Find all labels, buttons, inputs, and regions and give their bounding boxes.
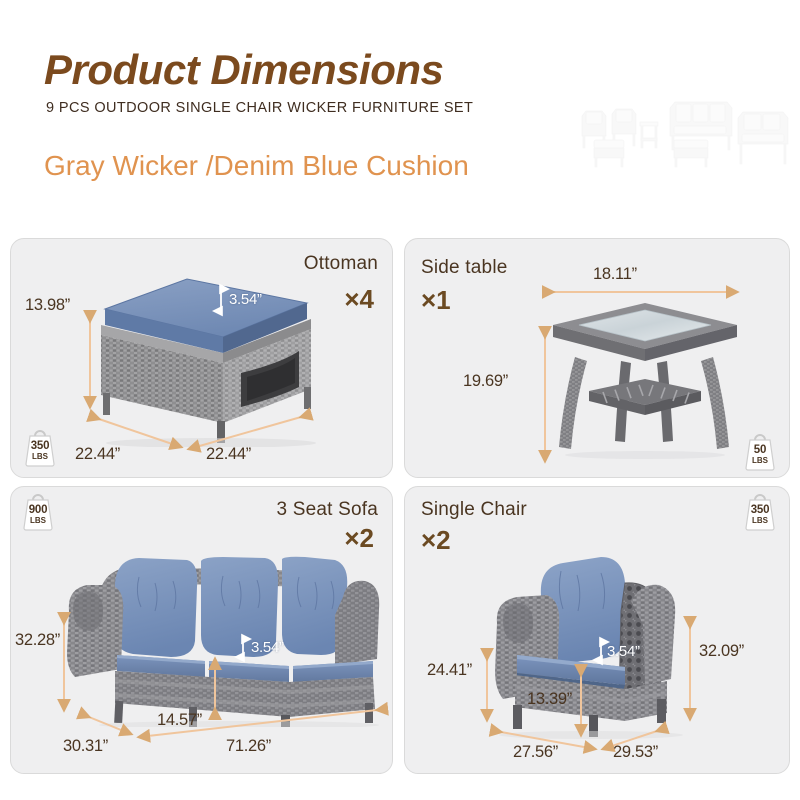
- panel-sidetable-title: Side table: [421, 257, 508, 279]
- chair-dim-arm-height: 24.41”: [427, 661, 472, 680]
- sofa-dim-width: 71.26”: [226, 737, 271, 756]
- weight-badge-chair: 350 LBS: [741, 491, 779, 531]
- infographic-canvas: Product Dimensions 9 PCS OUTDOOR SINGLE …: [0, 0, 800, 800]
- sofa-dim-height: 32.28”: [15, 631, 60, 650]
- sofa-dim-cushion: 3.54”: [251, 639, 284, 656]
- weight-badge-sofa: 900 LBS: [19, 491, 57, 531]
- ottoman-dim-width: 22.44”: [206, 445, 251, 464]
- chair-dim-seat-height: 13.39”: [527, 690, 572, 709]
- header: Product Dimensions 9 PCS OUTDOOR SINGLE …: [0, 0, 800, 232]
- weight-unit: LBS: [21, 452, 59, 461]
- ottoman-dim-depth: 22.44”: [75, 445, 120, 464]
- panel-chair-title: Single Chair: [421, 499, 527, 521]
- panel-sidetable-quantity: ×1: [421, 285, 451, 316]
- chair-dim-cushion: 3.54”: [607, 643, 640, 660]
- weight-badge-sidetable: 50 LBS: [741, 431, 779, 471]
- weight-value: 50: [741, 444, 779, 456]
- panel-chair: Single Chair ×2 350 LBS: [404, 486, 790, 774]
- page-subtitle: 9 PCS OUTDOOR SINGLE CHAIR WICKER FURNIT…: [46, 100, 473, 116]
- panel-sofa: 3 Seat Sofa ×2 900 LBS: [10, 486, 393, 774]
- sidetable-dim-height: 19.69”: [463, 372, 508, 391]
- sofa-dim-depth: 30.31”: [63, 737, 108, 756]
- panel-sidetable: Side table ×1 50 LBS: [404, 238, 790, 478]
- panel-chair-quantity: ×2: [421, 525, 451, 556]
- sidetable-dim-width: 18.11”: [593, 265, 637, 284]
- weight-value: 350: [741, 504, 779, 516]
- weight-unit: LBS: [19, 516, 57, 525]
- ottoman-dim-height: 13.98”: [25, 296, 70, 315]
- weight-value: 900: [19, 504, 57, 516]
- weight-unit: LBS: [741, 456, 779, 465]
- page-title: Product Dimensions: [44, 46, 443, 94]
- weight-value: 350: [21, 440, 59, 452]
- weight-badge-ottoman: 350 LBS: [21, 427, 59, 467]
- ottoman-illustration: [71, 267, 331, 447]
- furniture-set-thumbnail-icon: [578, 82, 796, 174]
- chair-illustration: [481, 539, 701, 739]
- weight-unit: LBS: [741, 516, 779, 525]
- chair-dim-width: 27.56”: [513, 743, 558, 762]
- chair-dim-depth: 29.53”: [613, 743, 658, 762]
- ottoman-dim-cushion: 3.54”: [229, 291, 262, 308]
- sofa-dim-seat-height: 14.57”: [157, 711, 202, 730]
- panel-sofa-title: 3 Seat Sofa: [277, 499, 379, 521]
- chair-dim-back-height: 32.09”: [699, 642, 744, 661]
- sofa-illustration: [59, 537, 389, 727]
- panel-ottoman-quantity: ×4: [344, 284, 374, 315]
- panel-ottoman: Ottoman ×4 350 LBS: [10, 238, 393, 478]
- sidetable-illustration: [545, 291, 745, 463]
- color-variant-line: Gray Wicker /Denim Blue Cushion: [44, 150, 469, 182]
